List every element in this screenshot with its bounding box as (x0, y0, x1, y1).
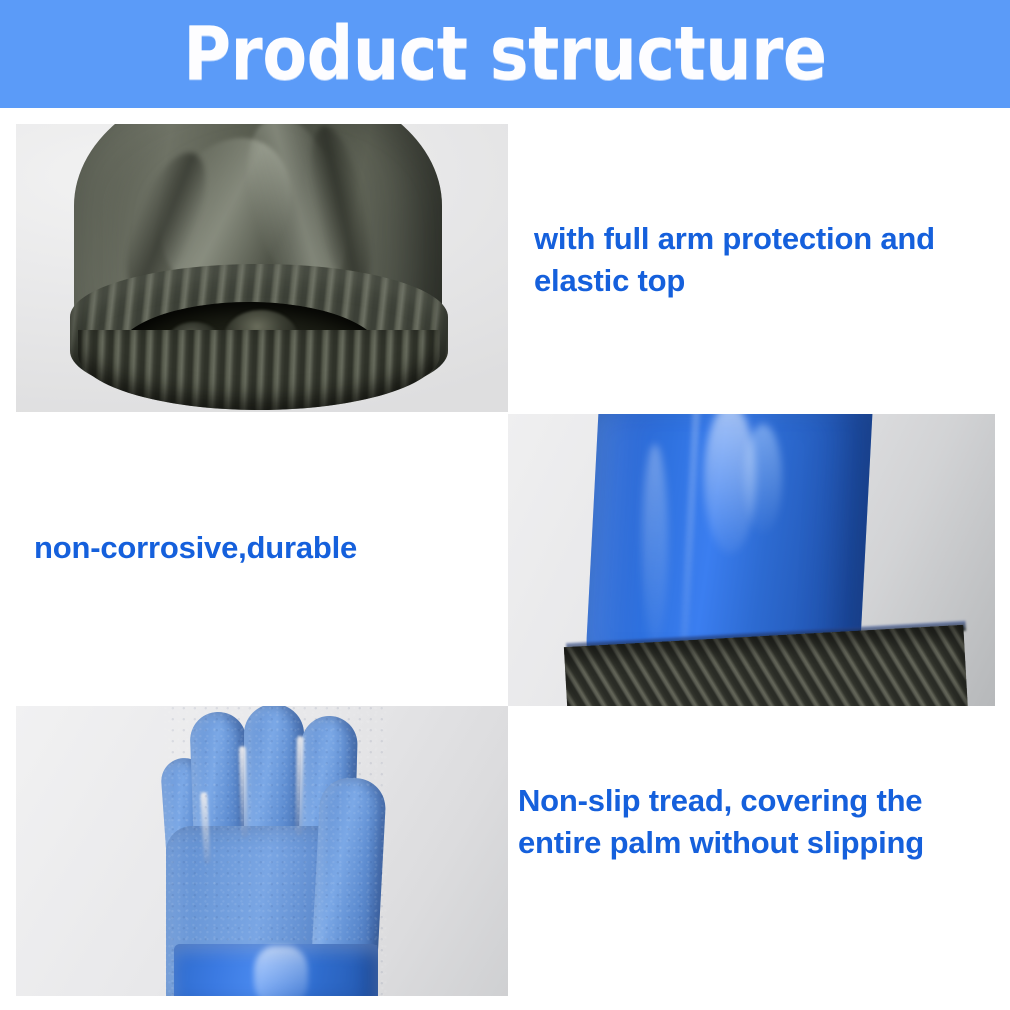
page-title: Product structure (61, 0, 950, 108)
cuff-gloss-highlight (642, 444, 668, 644)
palm-photo (16, 706, 508, 996)
cuff-gloss-highlight (744, 424, 782, 534)
header-banner: Product structure (0, 0, 1010, 108)
sleeve-gathered-hem (78, 330, 440, 410)
caption-non-slip-tread: Non-slip tread, covering the entire palm… (518, 780, 1004, 864)
palm-cuff-gloss (254, 946, 308, 996)
caption-non-corrosive-durable: non-corrosive,durable (34, 527, 504, 569)
caption-arm-protection: with full arm protection and elastic top (534, 218, 1004, 302)
cuff-photo (508, 414, 995, 706)
sleeve-photo (16, 124, 508, 412)
product-structure-infographic: Product structure (0, 0, 1010, 1010)
